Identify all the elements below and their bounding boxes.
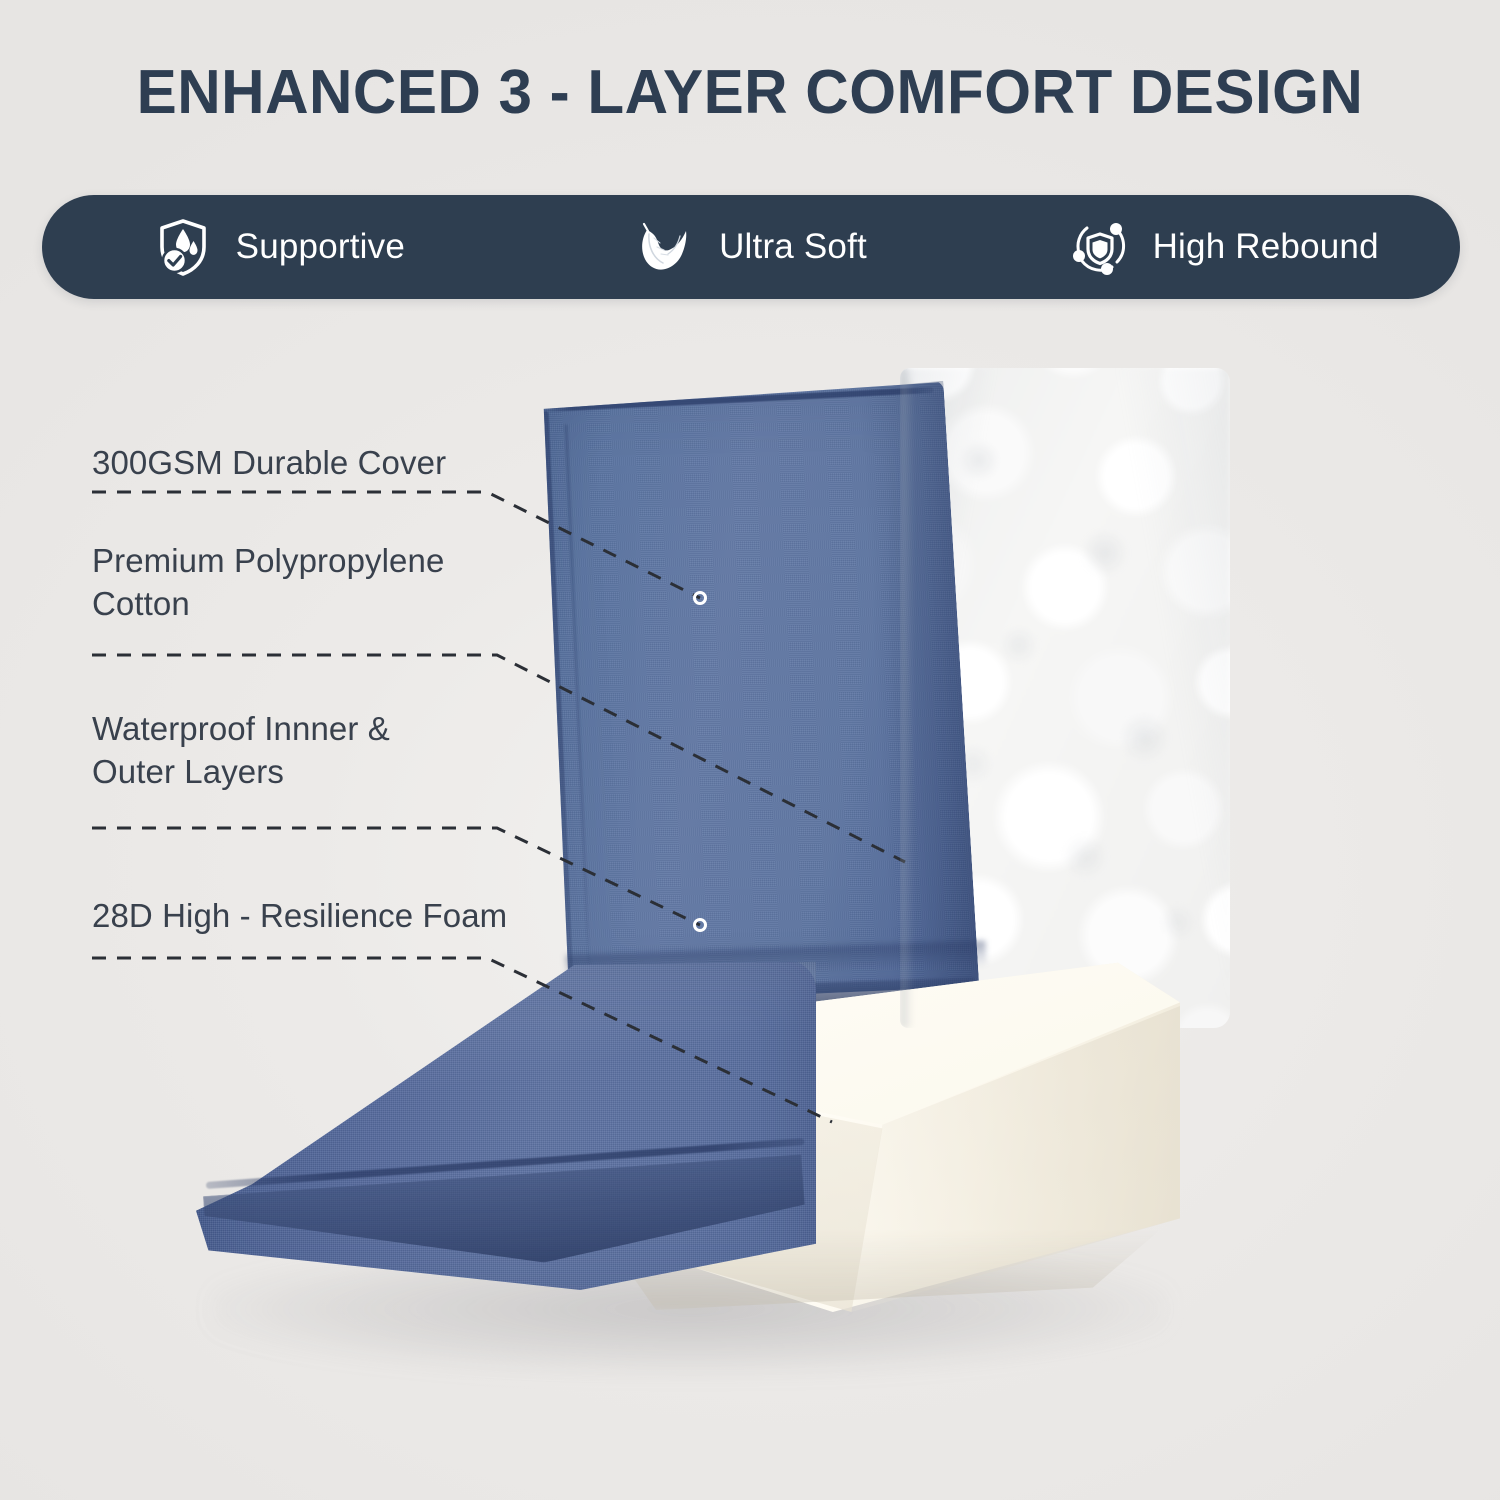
callout-line: Waterproof Innner & [92, 708, 390, 751]
callout-cover: 300GSM Durable Cover [92, 442, 446, 485]
callout-line: 28D High - Resilience Foam [92, 895, 507, 938]
callout-waterproof: Waterproof Innner & Outer Layers [92, 708, 390, 794]
backrest-top-seam [541, 387, 934, 412]
callout-line: Premium Polypropylene [92, 540, 444, 583]
callout-line: 300GSM Durable Cover [92, 442, 446, 485]
callout-line: Outer Layers [92, 751, 390, 794]
callout-cotton: Premium Polypropylene Cotton [92, 540, 444, 626]
floor-shadow [210, 1255, 1170, 1375]
callout-line: Cotton [92, 583, 444, 626]
callout-foam: 28D High - Resilience Foam [92, 895, 507, 938]
fiberfill-left-edge [900, 368, 914, 1028]
infographic-canvas: ENHANCED 3 - LAYER COMFORT DESIGN Suppor… [0, 0, 1500, 1500]
